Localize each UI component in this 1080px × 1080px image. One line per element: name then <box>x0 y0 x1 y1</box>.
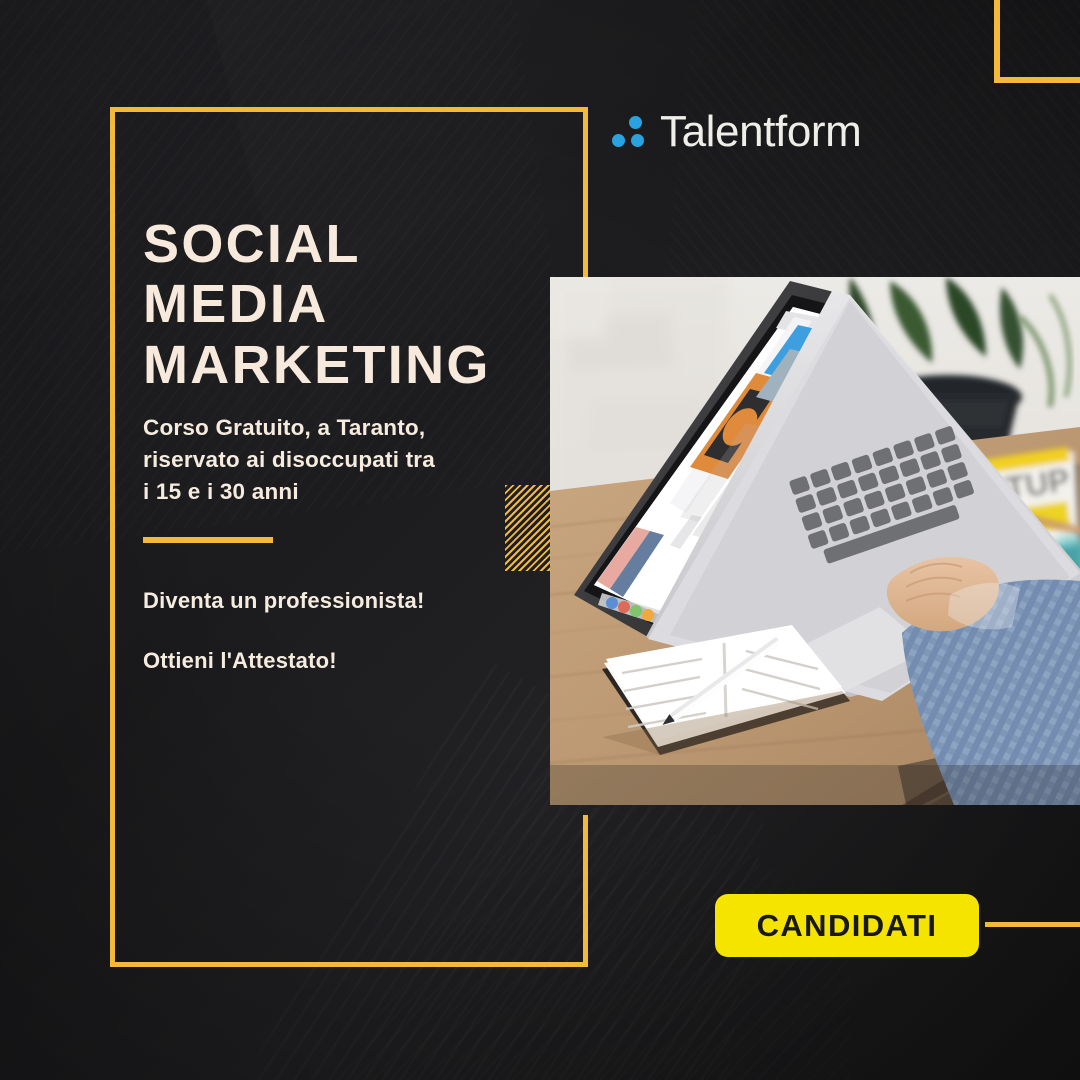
apply-button[interactable]: CANDIDATI <box>715 894 979 957</box>
hero-photo-illustration: STARTUP <box>550 277 1080 805</box>
three-dot-logo-icon <box>612 116 649 149</box>
promo-poster: STARTUP <box>0 0 1080 1080</box>
cta-accent-line <box>985 922 1080 927</box>
brand-name: Talentform <box>660 110 861 154</box>
corner-bracket-top-right <box>994 0 1080 83</box>
brand-logo: Talentform <box>612 110 861 154</box>
page-title: SOCIAL MEDIA MARKETING <box>143 214 491 395</box>
tagline-certificate: Ottieni l'Attestato! <box>143 648 337 674</box>
gold-divider <box>143 537 273 543</box>
tagline-professional: Diventa un professionista! <box>143 588 424 614</box>
hero-photo: STARTUP <box>550 277 1080 805</box>
course-details-text: Corso Gratuito, a Taranto, riservato ai … <box>143 412 503 508</box>
